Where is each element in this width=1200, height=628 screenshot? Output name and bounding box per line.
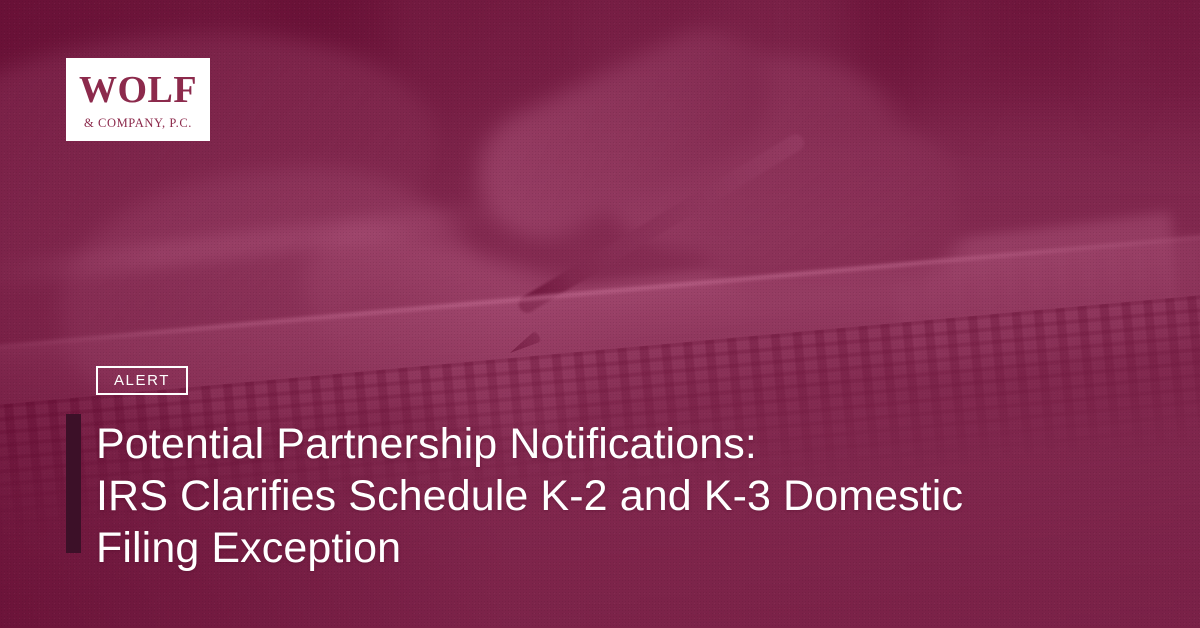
- headline-accent-bar: [66, 414, 81, 553]
- banner-content: WOLF & COMPANY, P.C. ALERT Potential Par…: [0, 0, 1200, 628]
- status-badge-label: ALERT: [114, 373, 170, 388]
- wolf-and-company-logo[interactable]: WOLF & COMPANY, P.C.: [66, 58, 210, 141]
- page-title-line-3: Filing Exception: [96, 522, 1116, 574]
- logo-subtitle: & COMPANY, P.C.: [84, 117, 192, 130]
- status-badge: ALERT: [96, 366, 188, 395]
- logo-wordmark: WOLF: [79, 71, 197, 109]
- page-title-line-1: Potential Partnership Notifications:: [96, 418, 1116, 470]
- page-title: Potential Partnership Notifications: IRS…: [96, 418, 1116, 574]
- page-title-line-2: IRS Clarifies Schedule K-2 and K-3 Domes…: [96, 470, 1116, 522]
- alert-hero-banner: WOLF & COMPANY, P.C. ALERT Potential Par…: [0, 0, 1200, 628]
